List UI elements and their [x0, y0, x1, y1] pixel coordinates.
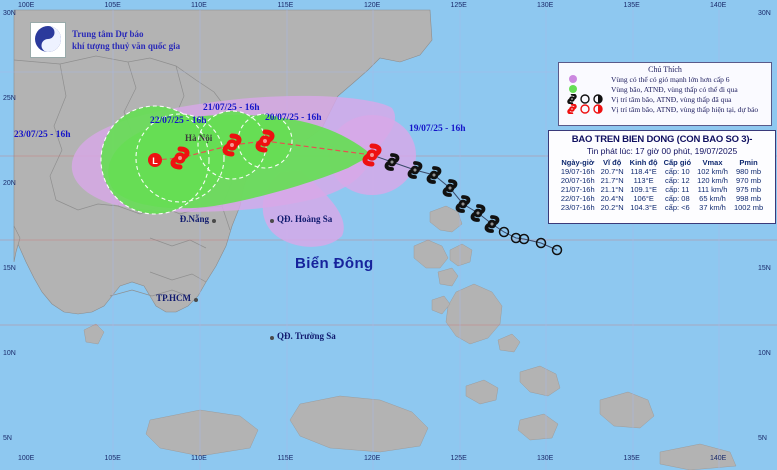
open-circle-icon: [581, 105, 589, 113]
legend-label-0: Vùng có thể có gió mạnh lớn hơn cấp 6: [611, 75, 730, 84]
cyclone-icon: [568, 95, 575, 104]
lon-tick-top-6: 130E: [537, 2, 553, 9]
forecast-cell-1-5: 970 mb: [731, 176, 766, 185]
city-dot-1: [270, 219, 274, 223]
forecast-col-header-1: Vĩ độ: [598, 158, 627, 167]
cyclone-icon: [568, 105, 575, 114]
forecast-cell-1-3: cấp: 12: [661, 176, 695, 185]
forecast-table-row: 19/07-16h20.7°N118.4°Ecấp: 10102 km/h980…: [558, 167, 766, 176]
lat-tick-left-1: 25N: [3, 95, 16, 102]
forecast-cell-3-1: 20.4°N: [598, 194, 627, 203]
half-filled-circle-icon: [594, 105, 602, 113]
capital-label: Hà Nội: [185, 133, 212, 143]
lon-tick-bottom-5: 125E: [451, 455, 467, 462]
lon-tick-bottom-6: 130E: [537, 455, 553, 462]
city-dot-2: [194, 298, 198, 302]
legend-row-1: Vùng bão, ATNĐ, vùng thấp có thể đi qua: [565, 84, 771, 94]
city-dot-0: [212, 219, 216, 223]
forecast-table-header: Ngày-giờVĩ độKinh độCấp gióVmaxPmin: [558, 158, 766, 167]
forecast-cell-1-1: 21.7°N: [598, 176, 627, 185]
lon-tick-top-1: 105E: [105, 2, 121, 9]
lon-tick-bottom-3: 115E: [278, 455, 294, 462]
green-circle-icon: [569, 85, 577, 93]
forecast-time-label-3: 22/07/25 - 16h: [150, 116, 206, 126]
lat-tick-left-0: 30N: [3, 10, 16, 17]
forecast-col-header-4: Vmax: [694, 158, 731, 167]
city-label-2: TP.HCM: [156, 293, 191, 303]
legend-label-3: Vị trí tâm bão, ATNĐ, vùng thấp hiện tại…: [611, 105, 758, 114]
city-label-3: QĐ. Trường Sa: [277, 331, 336, 341]
forecast-cell-1-2: 113°E: [627, 176, 661, 185]
forecast-cell-2-3: cấp: 11: [661, 185, 695, 194]
forecast-cell-4-5: 1002 mb: [731, 203, 766, 212]
legend-label-2: Vị trí tâm bão, ATNĐ, vùng thấp đã qua: [611, 95, 731, 104]
half-filled-circle-icon: [594, 95, 602, 103]
forecast-cell-2-5: 975 mb: [731, 185, 766, 194]
forecast-cell-2-1: 21.1°N: [598, 185, 627, 194]
sea-name-label: Biển Đông: [295, 255, 374, 272]
forecast-table-row: 23/07-16h20.2°N104.3°Ecấp: <637 km/h1002…: [558, 203, 766, 212]
black-cyclone-icons: [565, 94, 611, 104]
forecast-cell-3-0: 22/07-16h: [558, 194, 598, 203]
city-dot-3: [270, 336, 274, 340]
agency-name-line2: khí tượng thuỷ văn quốc gia: [72, 40, 180, 52]
forecast-info-panel: BAO TREN BIEN DONG (CON BAO SO 3)- Tin p…: [548, 130, 776, 224]
forecast-cell-2-4: 111 km/h: [694, 185, 731, 194]
forecast-col-header-5: Pmin: [731, 158, 766, 167]
agency-branding: Trung tâm Dự báo khí tượng thuỷ văn quốc…: [30, 22, 180, 58]
lon-tick-bottom-1: 105E: [105, 455, 121, 462]
forecast-col-header-3: Cấp gió: [661, 158, 695, 167]
forecast-cell-4-0: 23/07-16h: [558, 203, 598, 212]
lat-tick-right-3: 15N: [758, 265, 771, 272]
lon-tick-top-4: 120E: [364, 2, 380, 9]
forecast-table-row: 20/07-16h21.7°N113°Ecấp: 12120 km/h970 m…: [558, 176, 766, 185]
lon-tick-top-0: 100E: [18, 2, 34, 9]
city-label-1: QĐ. Hoàng Sa: [277, 214, 332, 224]
forecast-table-row: 22/07-16h20.4°N106°Ecấp: 0865 km/h998 mb: [558, 194, 766, 203]
legend-row-2: Vị trí tâm bão, ATNĐ, vùng thấp đã qua: [565, 94, 771, 104]
forecast-table-body: 19/07-16h20.7°N118.4°Ecấp: 10102 km/h980…: [558, 167, 766, 212]
lat-tick-right-4: 10N: [758, 350, 771, 357]
forecast-col-header-2: Kinh độ: [627, 158, 661, 167]
forecast-cell-3-4: 65 km/h: [694, 194, 731, 203]
lon-tick-bottom-0: 100E: [18, 455, 34, 462]
forecast-cell-0-3: cấp: 10: [661, 167, 695, 176]
storm-track-map: L 100E105E110E115E120E125E130E135E140E 1…: [0, 0, 777, 470]
legend-row-0: Vùng có thể có gió mạnh lớn hơn cấp 6: [565, 74, 771, 84]
forecast-cell-0-0: 19/07-16h: [558, 167, 598, 176]
forecast-cell-3-3: cấp: 08: [661, 194, 695, 203]
forecast-table-row: 21/07-16h21.1°N109.1°Ecấp: 11111 km/h975…: [558, 185, 766, 194]
lon-tick-bottom-4: 120E: [364, 455, 380, 462]
forecast-cell-0-2: 118.4°E: [627, 167, 661, 176]
lat-tick-left-5: 5N: [3, 435, 12, 442]
green-circle-icon: [565, 85, 611, 93]
lon-tick-bottom-7: 135E: [624, 455, 640, 462]
lon-tick-top-3: 115E: [278, 2, 294, 9]
forecast-cell-3-2: 106°E: [627, 194, 661, 203]
red-cyclone-icons: [565, 104, 611, 114]
lat-tick-right-0: 30N: [758, 10, 771, 17]
forecast-cell-1-0: 20/07-16h: [558, 176, 598, 185]
legend-row-3: Vị trí tâm bão, ATNĐ, vùng thấp hiện tại…: [565, 104, 771, 114]
legend-rows: Vùng có thể có gió mạnh lớn hơn cấp 6Vùn…: [559, 74, 771, 114]
lon-tick-bottom-8: 140E: [710, 455, 726, 462]
forecast-time-label-2: 21/07/25 - 16h: [203, 103, 259, 113]
forecast-time-label-0: 19/07/25 - 16h: [409, 124, 465, 134]
forecast-cell-0-1: 20.7°N: [598, 167, 627, 176]
lon-tick-top-7: 135E: [624, 2, 640, 9]
lon-tick-bottom-2: 110E: [191, 455, 207, 462]
lat-tick-left-4: 10N: [3, 350, 16, 357]
open-circle-icon: [581, 95, 589, 103]
legend-panel: Chú Thích Vùng có thể có gió mạnh lớn hơ…: [558, 62, 772, 126]
lat-tick-left-2: 20N: [3, 180, 16, 187]
forecast-low-symbol-4: L: [148, 153, 162, 167]
legend-title: Chú Thích: [559, 65, 771, 74]
lon-tick-top-5: 125E: [451, 2, 467, 9]
forecast-cell-3-5: 998 mb: [731, 194, 766, 203]
forecast-cell-1-4: 120 km/h: [694, 176, 731, 185]
forecast-cell-0-4: 102 km/h: [694, 167, 731, 176]
forecast-time-label-4: 23/07/25 - 16h: [14, 130, 70, 140]
city-label-0: Đ.Nẵng: [180, 214, 209, 224]
forecast-col-header-0: Ngày-giờ: [558, 158, 598, 167]
lat-tick-left-3: 15N: [3, 265, 16, 272]
legend-label-1: Vùng bão, ATNĐ, vùng thấp có thể đi qua: [611, 85, 738, 94]
purple-circle-icon: [565, 75, 611, 83]
lat-tick-right-5: 5N: [758, 435, 767, 442]
forecast-cell-2-2: 109.1°E: [627, 185, 661, 194]
lon-tick-top-2: 110E: [191, 2, 207, 9]
forecast-time-label-1: 20/07/25 - 16h: [265, 113, 321, 123]
forecast-cell-4-1: 20.2°N: [598, 203, 627, 212]
agency-name-line1: Trung tâm Dự báo: [72, 28, 180, 40]
bulletin-issue-time: Tin phát lúc: 17 giờ 00 phút, 19/07/2025: [549, 146, 775, 156]
forecast-cell-0-5: 980 mb: [731, 167, 766, 176]
bulletin-title: BAO TREN BIEN DONG (CON BAO SO 3)-: [549, 134, 775, 145]
purple-circle-icon: [569, 75, 577, 83]
yin-yang-logo-icon: [30, 22, 66, 58]
forecast-cell-4-3: cấp: <6: [661, 203, 695, 212]
forecast-cell-2-0: 21/07-16h: [558, 185, 598, 194]
forecast-cell-4-2: 104.3°E: [627, 203, 661, 212]
forecast-table: Ngày-giờVĩ độKinh độCấp gióVmaxPmin 19/0…: [558, 158, 766, 212]
svg-text:L: L: [152, 156, 158, 166]
lon-tick-top-8: 140E: [710, 2, 726, 9]
forecast-cell-4-4: 37 km/h: [694, 203, 731, 212]
